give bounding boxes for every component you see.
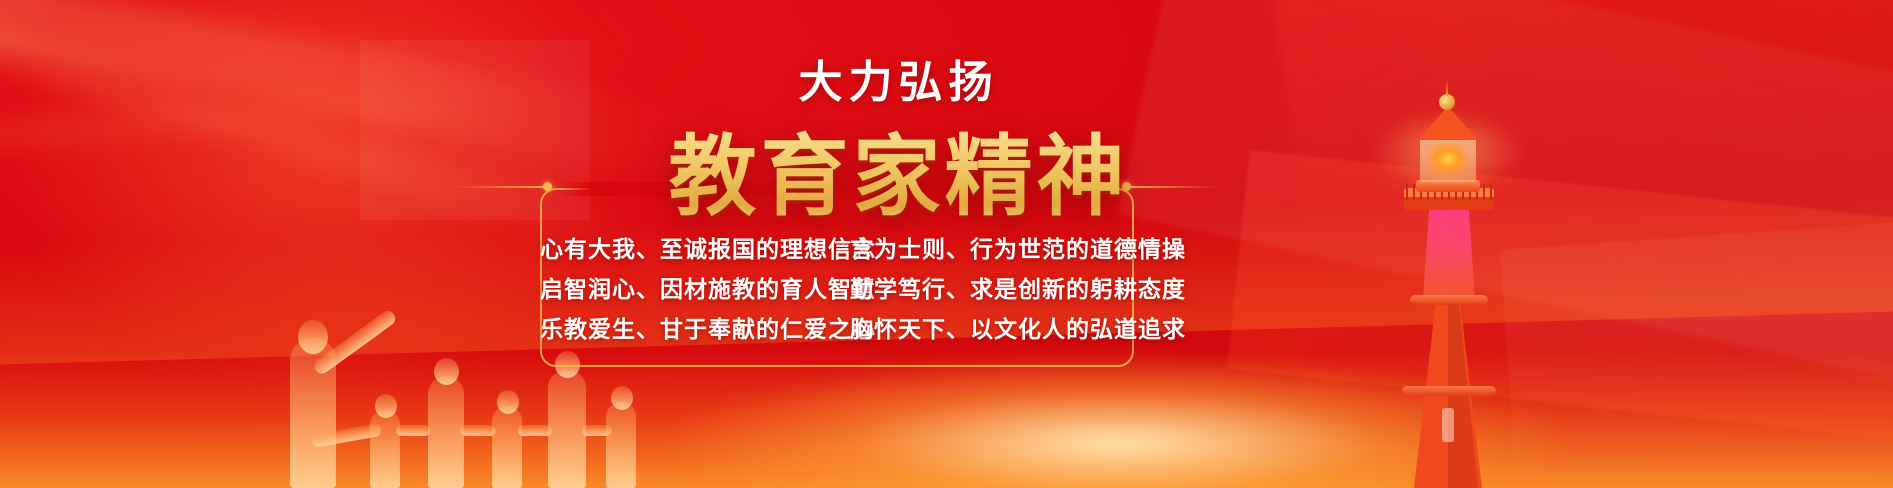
- education-spirit-banner: 大力弘扬 教育家精神 心有大我、至诚报国的理想信念 言为士则、行为世范的道德情操…: [0, 0, 1893, 488]
- slogan-right: 言为士则、行为世范的道德情操: [850, 230, 1140, 264]
- slogan-left: 心有大我、至诚报国的理想信念: [540, 230, 830, 264]
- slogan-row: 乐教爱生、甘于奉献的仁爱之心 胸怀天下、以文化人的弘道追求: [540, 310, 1130, 344]
- slogan-left: 启智润心、因材施教的育人智慧: [540, 270, 830, 304]
- slogan-right: 胸怀天下、以文化人的弘道追求: [850, 310, 1140, 344]
- banner-headline: 教育家精神: [0, 106, 1845, 233]
- banner-text-block: 大力弘扬 教育家精神 心有大我、至诚报国的理想信念 言为士则、行为世范的道德情操…: [0, 0, 1893, 488]
- slogan-right: 勤学笃行、求是创新的躬耕态度: [850, 270, 1140, 304]
- slogan-row: 启智润心、因材施教的育人智慧 勤学笃行、求是创新的躬耕态度: [540, 270, 1130, 304]
- banner-eyebrow: 大力弘扬: [0, 46, 1845, 110]
- slogan-left: 乐教爱生、甘于奉献的仁爱之心: [540, 310, 830, 344]
- slogan-row: 心有大我、至诚报国的理想信念 言为士则、行为世范的道德情操: [540, 230, 1130, 264]
- slogan-list: 心有大我、至诚报国的理想信念 言为士则、行为世范的道德情操 启智润心、因材施教的…: [540, 230, 1130, 344]
